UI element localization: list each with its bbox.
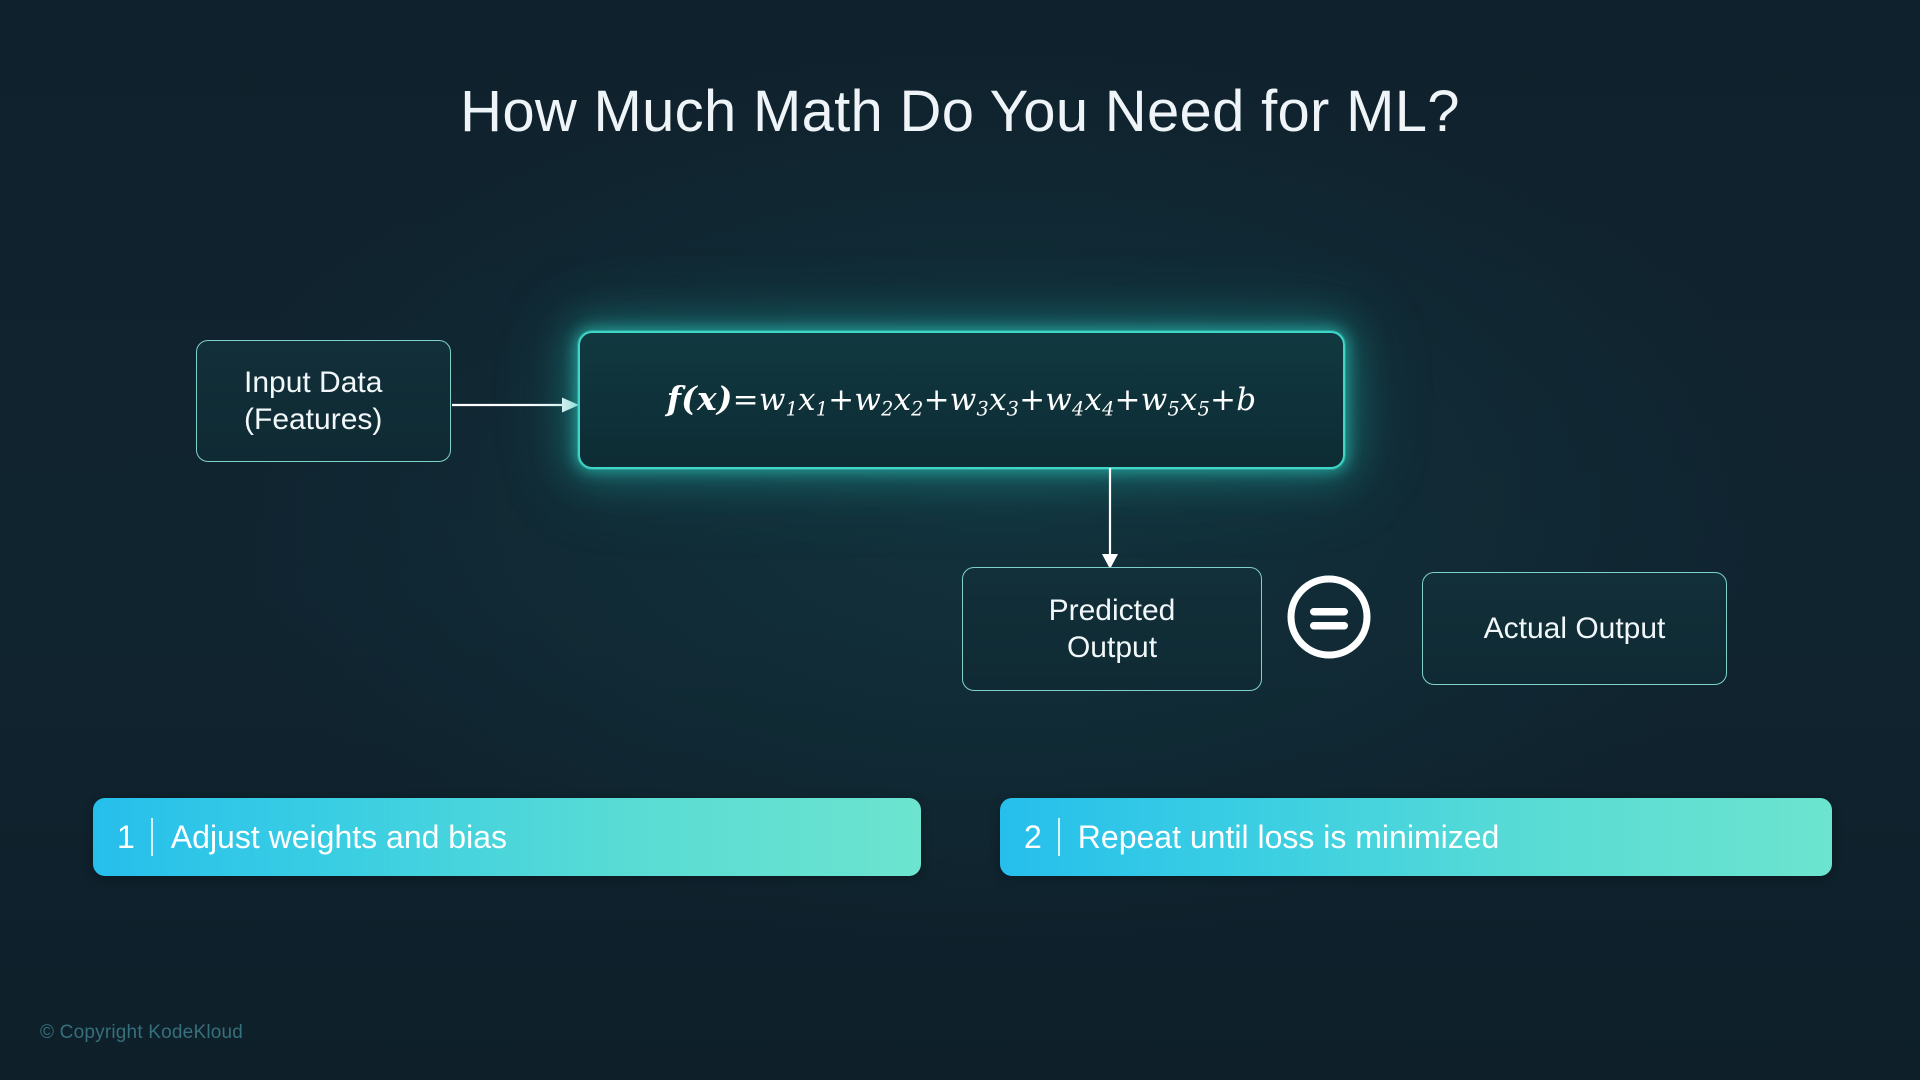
equals-circle-glyph: [1281, 569, 1377, 665]
formula-term-2-weight-sub: 2: [881, 398, 893, 421]
step-2-text: Repeat until loss is minimized: [1060, 819, 1500, 856]
arrow-right-icon: [452, 394, 580, 416]
predicted-output-label: Predicted Output: [1049, 592, 1176, 667]
formula-term-3-var: x: [989, 382, 1007, 418]
step-bar-1[interactable]: 1 Adjust weights and bias: [93, 798, 921, 876]
node-formula[interactable]: f(x)=w1x1+w2x2+w3x3+w4x4+w5x5+b: [578, 331, 1345, 469]
step-1-text: Adjust weights and bias: [153, 819, 507, 856]
copyright-footer: © Copyright KodeKloud: [40, 1022, 243, 1044]
formula-term-4-var-sub: 4: [1102, 398, 1114, 421]
step-1-number: 1: [93, 819, 151, 856]
equals-circle-icon: [1281, 569, 1377, 665]
formula-term-2-weight: w: [854, 382, 881, 418]
formula-term-5-weight: w: [1141, 382, 1168, 418]
formula-bias: b: [1236, 382, 1256, 418]
arrow-down-icon: [1098, 468, 1122, 570]
input-to-formula-arrow: [452, 394, 580, 416]
page-title: How Much Math Do You Need for ML?: [0, 78, 1920, 145]
input-data-line-2: (Features): [244, 401, 382, 439]
input-data-label: Input Data (Features): [244, 364, 382, 439]
formula-term-3-weight-sub: 3: [977, 398, 989, 421]
formula-expression: f(x)=w1x1+w2x2+w3x3+w4x4+w5x5+b: [667, 378, 1256, 421]
formula-term-1-var-sub: 1: [816, 398, 828, 421]
node-actual-output[interactable]: Actual Output: [1422, 572, 1727, 685]
formula-to-predicted-arrow: [1098, 468, 1122, 570]
formula-plus-3: +: [1019, 382, 1045, 418]
step-bar-2[interactable]: 2 Repeat until loss is minimized: [1000, 798, 1832, 876]
node-input-data[interactable]: Input Data (Features): [196, 340, 451, 462]
formula-term-1-var: x: [798, 382, 816, 418]
formula-term-5-var-sub: 5: [1198, 398, 1210, 421]
formula-term-2-var: x: [893, 382, 911, 418]
formula-plus-2: +: [924, 382, 950, 418]
formula-term-4-weight: w: [1045, 382, 1072, 418]
predicted-output-line-2: Output: [1049, 629, 1176, 667]
formula-term-1-weight: w: [759, 382, 786, 418]
slide-canvas: How Much Math Do You Need for ML? Input …: [0, 0, 1920, 1080]
formula-plus-5: +: [1210, 382, 1236, 418]
predicted-output-line-1: Predicted: [1049, 592, 1176, 630]
actual-output-label: Actual Output: [1484, 610, 1666, 648]
input-data-line-1: Input Data: [244, 364, 382, 402]
formula-plus-4: +: [1115, 382, 1141, 418]
formula-term-1-weight-sub: 1: [786, 398, 798, 421]
formula-plus-1: +: [828, 382, 854, 418]
step-2-number: 2: [1000, 819, 1058, 856]
formula-equals: =: [733, 382, 759, 418]
formula-term-5-weight-sub: 5: [1167, 398, 1179, 421]
formula-term-2-var-sub: 2: [911, 398, 923, 421]
node-predicted-output[interactable]: Predicted Output: [962, 567, 1262, 691]
formula-fn-label: f(x): [667, 379, 733, 418]
formula-term-3-var-sub: 3: [1007, 398, 1019, 421]
formula-term-4-var: x: [1084, 382, 1102, 418]
formula-term-3-weight: w: [950, 382, 977, 418]
formula-term-5-var: x: [1180, 382, 1198, 418]
formula-term-4-weight-sub: 4: [1072, 398, 1084, 421]
